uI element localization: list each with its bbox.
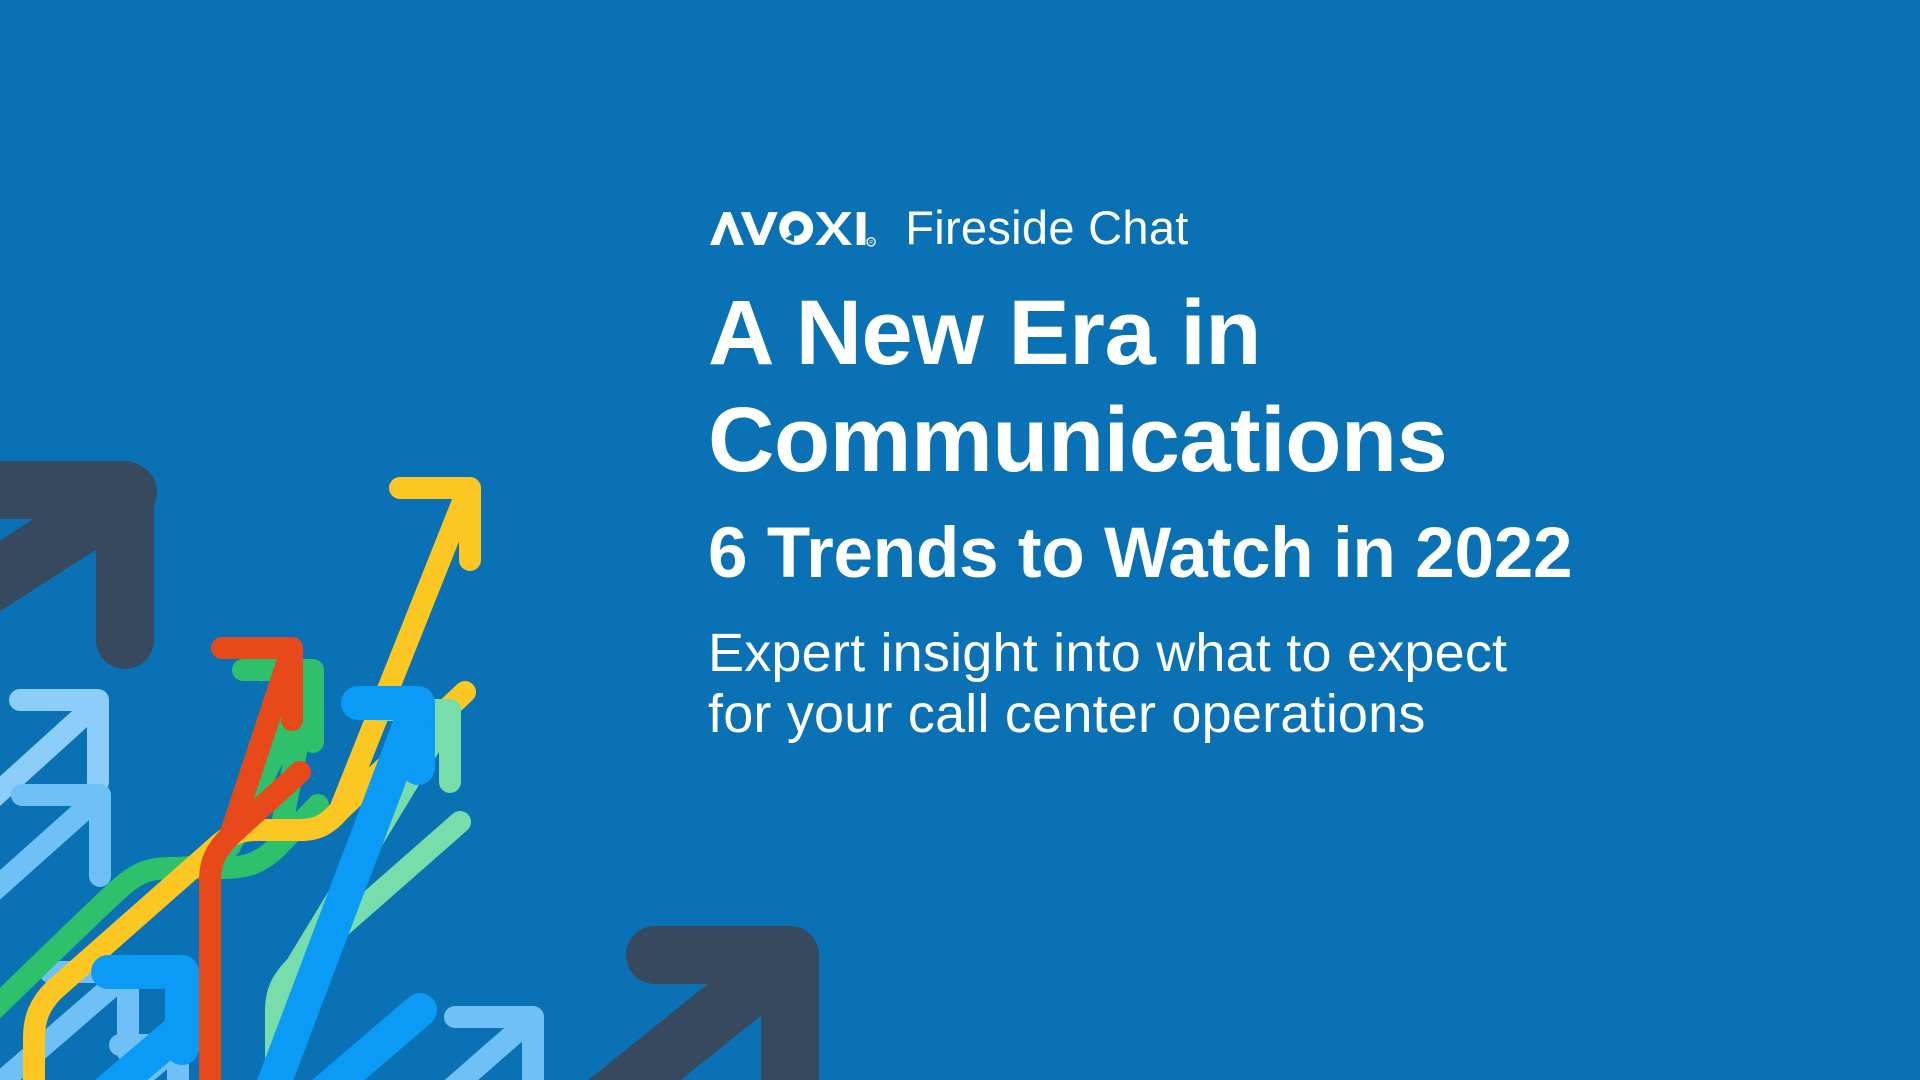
light-blue-arrow-mid-icon [0, 972, 128, 1080]
svg-text:R: R [869, 240, 873, 246]
avoxi-logo: R [708, 207, 877, 247]
navy-arrow-top-left-icon [0, 490, 128, 660]
description-line-2: for your call center operations [708, 684, 1778, 746]
yellow-step-arrow-icon [0, 488, 470, 1080]
brand-eyebrow-row: R Fireside Chat [708, 196, 1778, 258]
presentation-slide: R Fireside Chat A New Era in Communicati… [0, 0, 1920, 1080]
pale-blue-arrow-edge-icon [0, 700, 98, 900]
light-blue-arrow-upper-icon [0, 795, 100, 1010]
eyebrow-label: Fireside Chat [905, 204, 1188, 251]
bright-blue-arrow-large-icon [245, 703, 420, 1080]
slide-content: R Fireside Chat A New Era in Communicati… [708, 196, 1778, 746]
page-subtitle: 6 Trends to Watch in 2022 [708, 511, 1778, 596]
light-blue-arrow-right-icon [370, 1017, 533, 1080]
page-title-line-1: A New Era in [708, 280, 1778, 387]
orange-step-arrow-icon [178, 648, 300, 1080]
description-line-1: Expert insight into what to expect [708, 623, 1778, 685]
page-title-line-2: Communications [708, 387, 1778, 494]
navy-arrow-bottom-center-icon [560, 955, 790, 1080]
mint-step-arrow-icon [245, 710, 460, 1080]
page-description: Expert insight into what to expect for y… [708, 623, 1778, 746]
light-blue-arrow-lower-icon [55, 1045, 178, 1080]
bright-blue-arrow-lower-icon [0, 972, 182, 1080]
green-step-arrow-icon [0, 670, 318, 1080]
